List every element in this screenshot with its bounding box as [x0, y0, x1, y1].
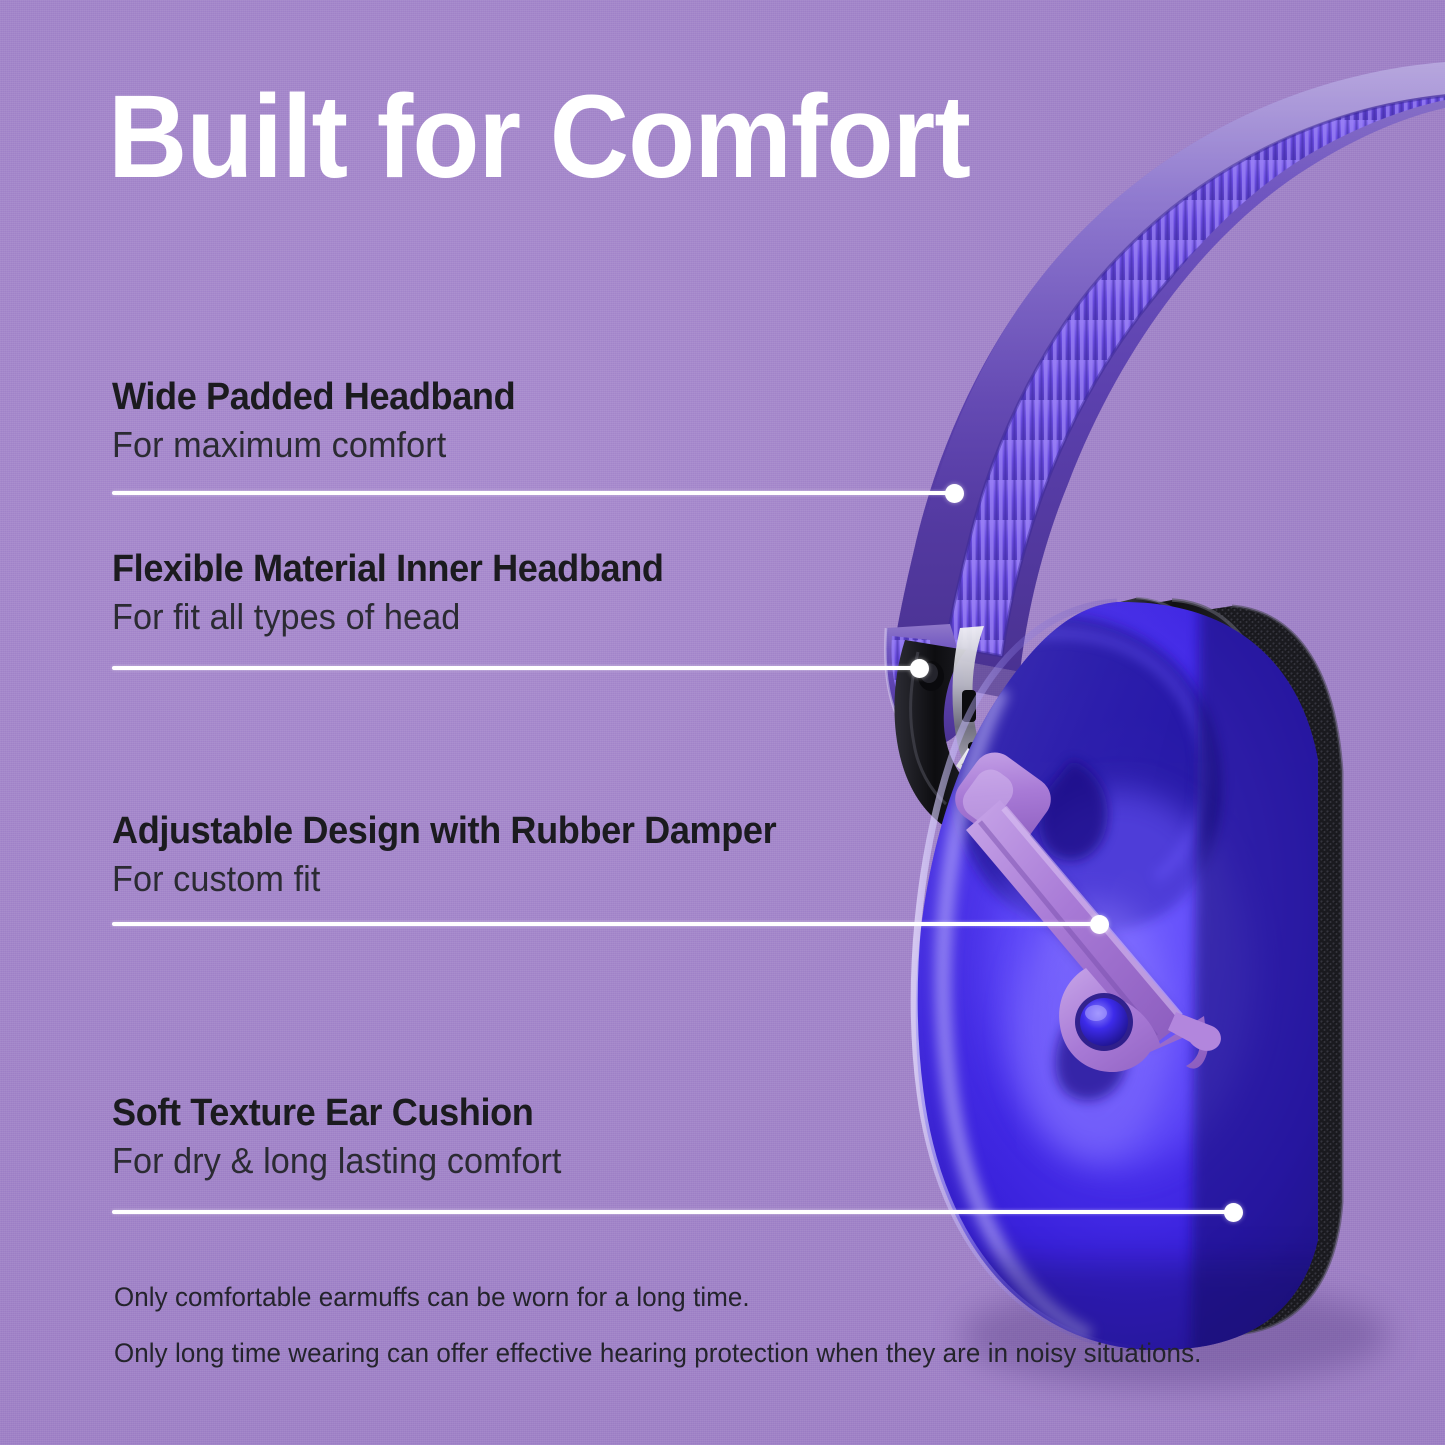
callout-dot-headband-pad	[945, 484, 964, 503]
background-gradient	[0, 0, 1445, 1445]
callout-line-ear-cushion	[112, 1210, 1234, 1214]
callout-line-inner-headband	[112, 666, 920, 670]
footnote-line-1: Only comfortable earmuffs can be worn fo…	[114, 1282, 750, 1313]
feature-2-title: Flexible Material Inner Headband	[112, 548, 664, 591]
feature-4-subtitle: For dry & long lasting comfort	[112, 1139, 562, 1183]
infographic-canvas: Built for Comfort Wide Padded Headband F…	[0, 0, 1445, 1445]
feature-block-3: Adjustable Design with Rubber Damper For…	[112, 810, 811, 900]
feature-block-1: Wide Padded Headband For maximum comfort	[112, 376, 537, 466]
feature-1-title: Wide Padded Headband	[112, 376, 515, 419]
feature-block-4: Soft Texture Ear Cushion For dry & long …	[112, 1092, 585, 1182]
callout-line-headband-pad	[112, 491, 955, 495]
feature-block-2: Flexible Material Inner Headband For fit…	[112, 548, 693, 638]
footnote-line-2: Only long time wearing can offer effecti…	[114, 1338, 1201, 1369]
callout-dot-inner-headband	[910, 659, 929, 678]
feature-3-title: Adjustable Design with Rubber Damper	[112, 810, 776, 853]
callout-line-rubber-damper	[112, 922, 1100, 926]
feature-4-title: Soft Texture Ear Cushion	[112, 1092, 562, 1135]
callout-dot-ear-cushion	[1224, 1203, 1243, 1222]
feature-1-subtitle: For maximum comfort	[112, 423, 515, 467]
page-title: Built for Comfort	[108, 78, 970, 196]
feature-3-subtitle: For custom fit	[112, 857, 776, 901]
callout-dot-rubber-damper	[1090, 915, 1109, 934]
feature-2-subtitle: For fit all types of head	[112, 595, 664, 639]
